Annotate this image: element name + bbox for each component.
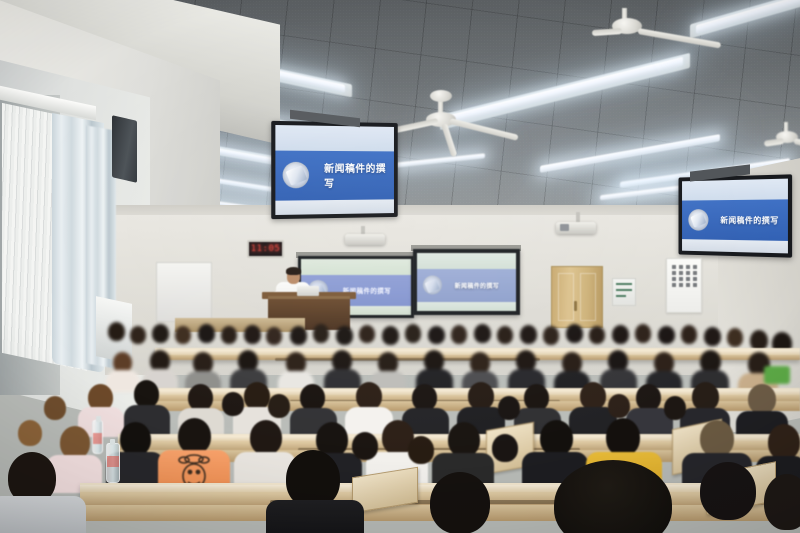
lecture-hall-photo: 新闻稿件的撰写 校园媒体 2024年7月18日 新闻稿件的撰写 校园媒体 [0, 0, 800, 533]
lecturer [0, 0, 800, 340]
lecturer-hair [286, 267, 301, 275]
audience-area [0, 300, 800, 533]
audience-fill [0, 300, 800, 533]
podium-laptop[interactable] [297, 286, 319, 296]
